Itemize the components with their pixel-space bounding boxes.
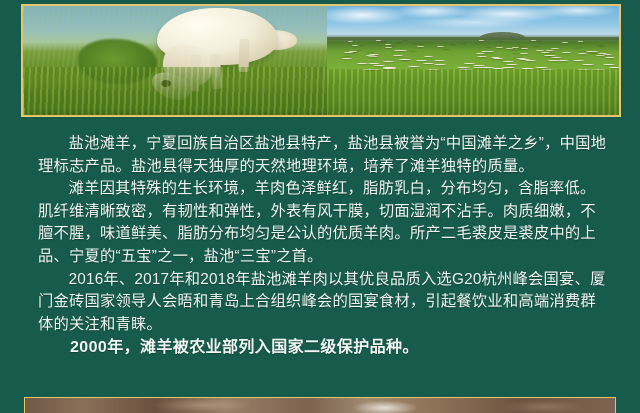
- sheep-figure: [520, 53, 529, 54]
- sheep-figure: [409, 50, 417, 51]
- sheep-figure: [596, 55, 605, 56]
- sheep-figure: [352, 45, 359, 46]
- sheep-figure: [417, 46, 424, 47]
- sheep-figure: [385, 47, 392, 48]
- sheep-figure: [473, 65, 485, 66]
- sheep-figure: [503, 61, 514, 62]
- clouds-decor: [327, 6, 619, 39]
- photo-flock-grassland: [327, 6, 619, 115]
- sheep-figure: [485, 46, 492, 47]
- sheep-figure: [551, 48, 558, 49]
- sheep-figure: [493, 58, 503, 59]
- sheep-figure: [457, 67, 470, 68]
- product-info-page: 盐池滩羊，宁夏回族自治区盐池县特产，盐池县被誉为“中国滩羊之乡”，中国地理标志产…: [0, 0, 640, 413]
- sheep-figure: [521, 48, 528, 49]
- sheep-figure: [516, 48, 523, 49]
- sheep-figure: [525, 60, 536, 61]
- sheep-figure: [544, 55, 553, 56]
- paragraph-quality: 滩羊因其特殊的生长环境，羊肉色泽鲜红，脂肪乳白，分布均匀，含脂率低。肌纤维清晰致…: [38, 178, 610, 268]
- sheep-figure: [562, 52, 571, 53]
- sheep-figure: [582, 64, 594, 65]
- strip-highlight: [25, 398, 615, 413]
- sheep-figure: [548, 60, 559, 61]
- sheep-figure: [558, 60, 569, 61]
- sheep-figure: [598, 45, 604, 46]
- sheep-figure: [541, 52, 549, 53]
- paragraph-achievements: 2016年、2017年和2018年盐池滩羊肉以其优良品质入选G20杭州峰会国宴、…: [38, 269, 610, 337]
- article-body: 盐池滩羊，宁夏回族自治区盐池县特产，盐池县被誉为“中国滩羊之乡”，中国地理标志产…: [38, 133, 610, 360]
- sheep-figure: [551, 57, 561, 58]
- sheep-figure: [434, 60, 445, 61]
- sheep-figure: [573, 60, 584, 61]
- sheep-figure: [477, 56, 487, 57]
- sheep-figure: [510, 49, 517, 50]
- sheep-figure: [496, 47, 503, 48]
- sheep-figure: [344, 52, 353, 53]
- sheep-figure: [605, 57, 615, 58]
- sheep-figure: [437, 46, 444, 47]
- foreground-grass: [23, 67, 327, 115]
- sheep-figure: [598, 53, 607, 54]
- sheep-figure: [536, 50, 544, 51]
- sheep-figure: [506, 64, 518, 65]
- sheep-figure: [359, 44, 365, 45]
- sheep-figure: [533, 45, 539, 46]
- sheep-figure: [399, 59, 409, 60]
- sheep-figure: [476, 53, 485, 54]
- sheep-figure: [368, 56, 378, 57]
- sheep-figure: [442, 48, 449, 49]
- sheep-figure: [502, 67, 515, 68]
- bottom-photo-strip: [24, 397, 616, 413]
- sheep-figure: [603, 64, 615, 65]
- sheep-figure: [546, 50, 554, 51]
- sheep-figure: [393, 55, 402, 56]
- sheep-figure: [609, 67, 619, 68]
- sheep-figure: [535, 67, 548, 68]
- sheep-figure: [481, 51, 489, 52]
- sheep-figure: [373, 65, 385, 66]
- sheep-figure: [518, 45, 524, 46]
- sheep-figure: [357, 63, 369, 64]
- sheep-figure: [464, 63, 476, 64]
- sheep-figure: [423, 63, 435, 64]
- sheep-figure: [342, 55, 351, 56]
- sheep-figure: [450, 43, 456, 44]
- sheep-figure: [383, 61, 394, 62]
- sheep-figure: [416, 60, 427, 61]
- sheep-figure: [342, 58, 352, 59]
- sheep-figure: [356, 49, 364, 50]
- sheep-figure: [408, 66, 421, 67]
- hero-photo-banner: [21, 4, 621, 117]
- sheep-figure: [586, 51, 594, 52]
- sheep-figure: [424, 56, 434, 57]
- paragraph-origin: 盐池滩羊，宁夏回族自治区盐池县特产，盐池县被誉为“中国滩羊之乡”，中国地理标志产…: [38, 133, 610, 178]
- paragraph-protected-breed: 2000年，滩羊被农业部列入国家二级保护品种。: [38, 337, 610, 360]
- sheep-figure: [369, 54, 378, 55]
- sheep-figure: [578, 53, 587, 54]
- sheep-figure: [513, 56, 522, 57]
- photo-grazing-sheep-closeup: [23, 6, 327, 115]
- sheep-figure: [367, 51, 375, 52]
- foreground-meadow: [327, 69, 619, 115]
- sheep-figure: [572, 47, 579, 48]
- sheep-figure: [368, 63, 380, 64]
- sheep-figure: [434, 64, 446, 65]
